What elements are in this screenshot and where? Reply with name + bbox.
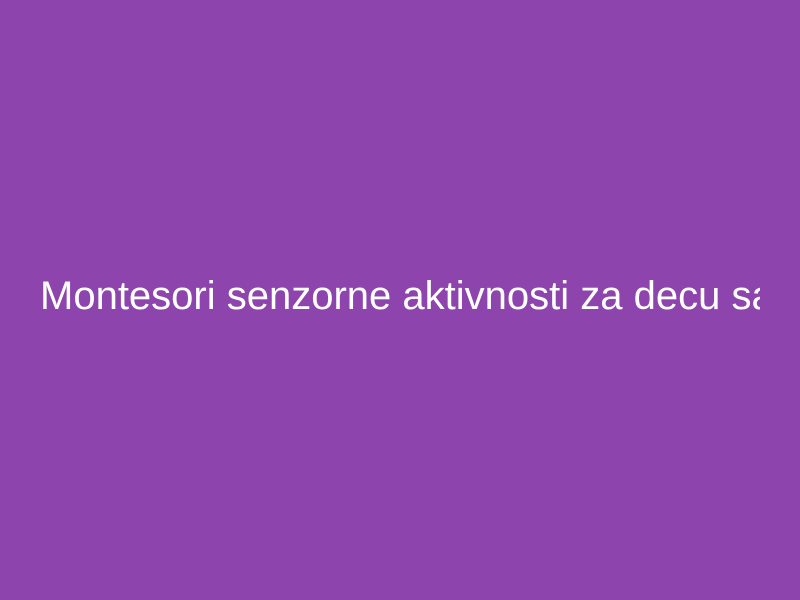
page-title: Montesori senzorne aktivnosti za decu sa — [40, 272, 760, 320]
title-card: Montesori senzorne aktivnosti za decu sa — [0, 0, 800, 600]
